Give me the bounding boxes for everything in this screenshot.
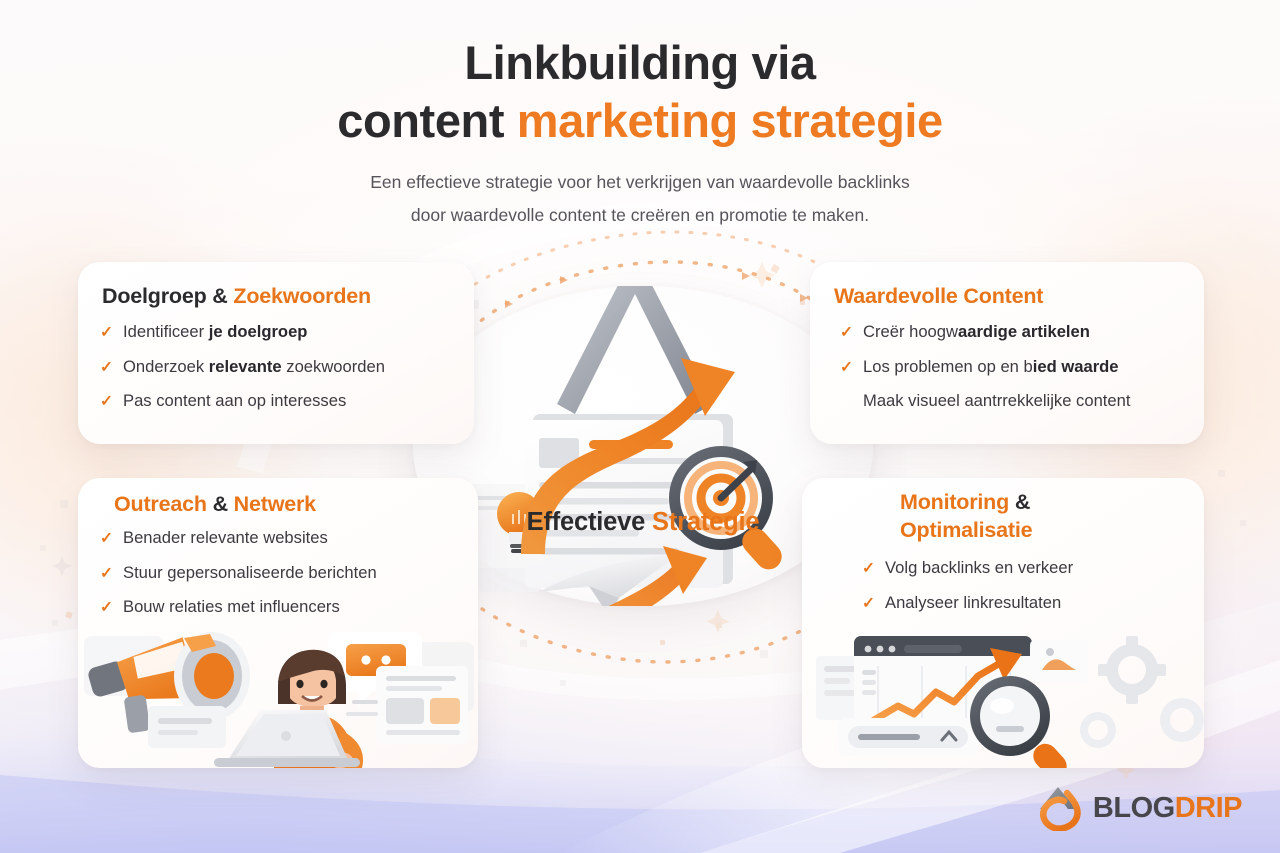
check-icon: ✓ xyxy=(100,358,114,377)
monitoring-illustration xyxy=(802,618,1204,768)
card-waardevolle-content: Waardevolle Content ✓ Creër hoogwaardige… xyxy=(810,262,1204,444)
list-item: ✓ Volg backlinks en verkeer xyxy=(862,558,1073,579)
list-item: ✓ Benader relevante websites xyxy=(100,528,377,549)
thumbnail-card xyxy=(1030,640,1088,682)
center-label-accent: Strategie xyxy=(652,508,759,536)
card-title: Outreach & Netwerk xyxy=(114,491,316,519)
card-title: Monitoring & Optimalisatie xyxy=(900,489,1130,544)
card-title-accent-2: Netwerk xyxy=(234,492,316,516)
list-item-text: Maak visueel aantrrekkelijke content xyxy=(863,391,1130,412)
list-item: ✓ Stuur gepersonaliseerde berichten xyxy=(100,563,377,584)
list-item-text: Analyseer linkresultaten xyxy=(885,593,1061,614)
page-title-accent-part: marketing strategie xyxy=(517,94,943,147)
background-card-left xyxy=(148,706,226,748)
card-title-dark: & xyxy=(1009,490,1030,514)
gear-icons xyxy=(1080,636,1204,748)
card-title: Waardevolle Content xyxy=(834,283,1043,311)
card-title-dark: & xyxy=(207,492,234,516)
list-item-text: Creër hoogwaardige artikelen xyxy=(863,322,1090,343)
list-item: ✓ Identificeer je doelgroep xyxy=(100,322,385,343)
brand-logo[interactable]: BLOGDRIP xyxy=(1036,785,1242,831)
list-item: ✓ Creër hoogwaardige artikelen xyxy=(840,322,1130,343)
list-item: ✓ Maak visueel aantrrekkelijke content xyxy=(840,391,1130,412)
list-item-text: Identificeer je doelgroep xyxy=(123,322,307,343)
page-subtitle: Een effectieve strategie voor het verkri… xyxy=(0,166,1280,233)
logo-text-secondary: DRIP xyxy=(1175,792,1242,824)
droplet-swoosh-icon xyxy=(1036,785,1084,831)
subtitle-line-1: Een effectieve strategie voor het verkri… xyxy=(0,166,1280,199)
logo-wordmark: BLOGDRIP xyxy=(1093,792,1242,825)
card-doelgroep-zoekwoorden: Doelgroep & Zoekwoorden ✓ Identificeer j… xyxy=(78,262,474,444)
logo-text-primary: BLOG xyxy=(1093,792,1175,824)
list-item: ✓ Bouw relaties met influencers xyxy=(100,597,377,618)
check-icon: ✓ xyxy=(840,323,854,342)
card-title-accent: Waardevolle Content xyxy=(834,284,1043,308)
bullet-list: ✓ Benader relevante websites ✓ Stuur gep… xyxy=(100,528,377,632)
subtitle-line-2: door waardevolle content te creëren en p… xyxy=(0,199,1280,232)
bullet-list: ✓ Identificeer je doelgroep ✓ Onderzoek … xyxy=(100,322,385,426)
card-title-accent-2: Optimalisatie xyxy=(900,518,1032,542)
list-item-text: Bouw relaties met influencers xyxy=(123,597,340,618)
check-icon: ✓ xyxy=(100,598,114,617)
check-icon: ✓ xyxy=(100,392,114,411)
card-title-accent: Zoekwoorden xyxy=(233,284,371,308)
list-item-text: Onderzoek relevante zoekwoorden xyxy=(123,357,385,378)
check-icon: ✓ xyxy=(862,594,876,613)
list-item-text: Volg backlinks en verkeer xyxy=(885,558,1073,579)
check-icon: ✓ xyxy=(100,529,114,548)
check-icon: ✓ xyxy=(100,323,114,342)
page-title-dark-part: content xyxy=(337,94,517,147)
list-item: ✓ Analyseer linkresultaten xyxy=(862,593,1073,614)
list-item-text: Pas content aan op interesses xyxy=(123,391,346,412)
laptop-icon xyxy=(214,710,360,767)
search-bar-card xyxy=(838,718,978,756)
card-title: Doelgroep & Zoekwoorden xyxy=(102,283,371,311)
center-label-dark: Effectieve xyxy=(527,508,645,536)
list-item-text: Benader relevante websites xyxy=(123,528,328,549)
list-item: ✓ Los problemen op en bied waarde xyxy=(840,357,1130,378)
page-title-line-2: content marketing strategie xyxy=(0,93,1280,148)
list-item-text: Stuur gepersonaliseerde berichten xyxy=(123,563,377,584)
page-title-line-1: Linkbuilding via xyxy=(0,38,1280,89)
header: Linkbuilding via content marketing strat… xyxy=(0,38,1280,233)
card-title-accent: Outreach xyxy=(114,492,207,516)
center-label: Effectieve Strategie xyxy=(413,508,873,537)
check-icon: ✓ xyxy=(862,559,876,578)
card-title-dark: Doelgroep & xyxy=(102,284,228,308)
infographic-canvas: Linkbuilding via content marketing strat… xyxy=(0,0,1280,853)
list-item-text: Los problemen op en bied waarde xyxy=(863,357,1119,378)
magnifier-icon xyxy=(970,676,1072,768)
list-item: ✓ Onderzoek relevante zoekwoorden xyxy=(100,357,385,378)
card-title-accent: Monitoring xyxy=(900,490,1009,514)
outreach-illustration xyxy=(78,618,478,768)
list-item: ✓ Pas content aan op interesses xyxy=(100,391,385,412)
check-icon: ✓ xyxy=(100,564,114,583)
check-icon: ✓ xyxy=(840,358,854,377)
bullet-list: ✓ Creër hoogwaardige artikelen ✓ Los pro… xyxy=(840,322,1130,426)
